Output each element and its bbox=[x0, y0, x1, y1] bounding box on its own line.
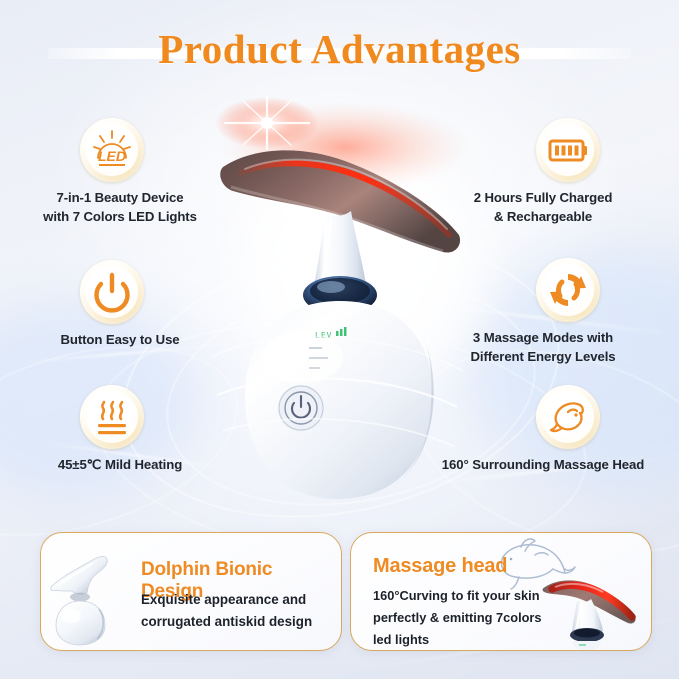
feature-massage-modes-label: 3 Massage Modes with Different Energy Le… bbox=[418, 329, 668, 366]
svg-text:LEV: LEV bbox=[315, 331, 332, 340]
feature-button-label: Button Easy to Use bbox=[6, 331, 234, 350]
massage-head-card-body: 160°Curving to fit your skin perfectly &… bbox=[373, 585, 563, 651]
page-title: Product Advantages bbox=[0, 18, 679, 80]
battery-icon bbox=[536, 118, 600, 182]
feature-battery-label: 2 Hours Fully Charged & Rechargeable bbox=[418, 189, 668, 226]
feature-button: Button Easy to Use bbox=[12, 260, 262, 350]
massage-head-card-title: Massage head bbox=[373, 555, 553, 578]
dolphin-device-thumbnail bbox=[47, 547, 143, 647]
refresh-cycle-icon bbox=[536, 258, 600, 322]
feature-led: LED 7-in-1 Beauty Device with 7 Colors L… bbox=[12, 118, 262, 226]
feature-massage-modes: 3 Massage Modes with Different Energy Le… bbox=[418, 258, 668, 366]
massage-head-card: Massage head 160°Curving to fit your ski… bbox=[350, 532, 652, 651]
feature-battery: 2 Hours Fully Charged & Rechargeable bbox=[418, 118, 668, 226]
dolphin-card-body: Exquisite appearance and corrugated anti… bbox=[141, 589, 337, 632]
feature-led-label: 7-in-1 Beauty Device with 7 Colors LED L… bbox=[6, 189, 234, 226]
product-advantages-infographic: Product Advantages bbox=[0, 0, 679, 679]
feature-heating: 45±5℃ Mild Heating bbox=[12, 385, 262, 475]
heat-waves-icon bbox=[80, 385, 144, 449]
svg-text:LED: LED bbox=[98, 148, 126, 164]
feature-heating-label: 45±5℃ Mild Heating bbox=[6, 456, 234, 475]
dolphin-icon bbox=[536, 385, 600, 449]
dolphin-bionic-design-card: Dolphin Bionic Design Exquisite appearan… bbox=[40, 532, 342, 651]
page-title-block: Product Advantages bbox=[0, 18, 679, 80]
feature-surround-head: 160° Surrounding Massage Head bbox=[418, 385, 668, 475]
feature-surround-head-label: 160° Surrounding Massage Head bbox=[418, 456, 668, 475]
power-button-icon bbox=[80, 260, 144, 324]
led-icon: LED bbox=[80, 118, 144, 182]
